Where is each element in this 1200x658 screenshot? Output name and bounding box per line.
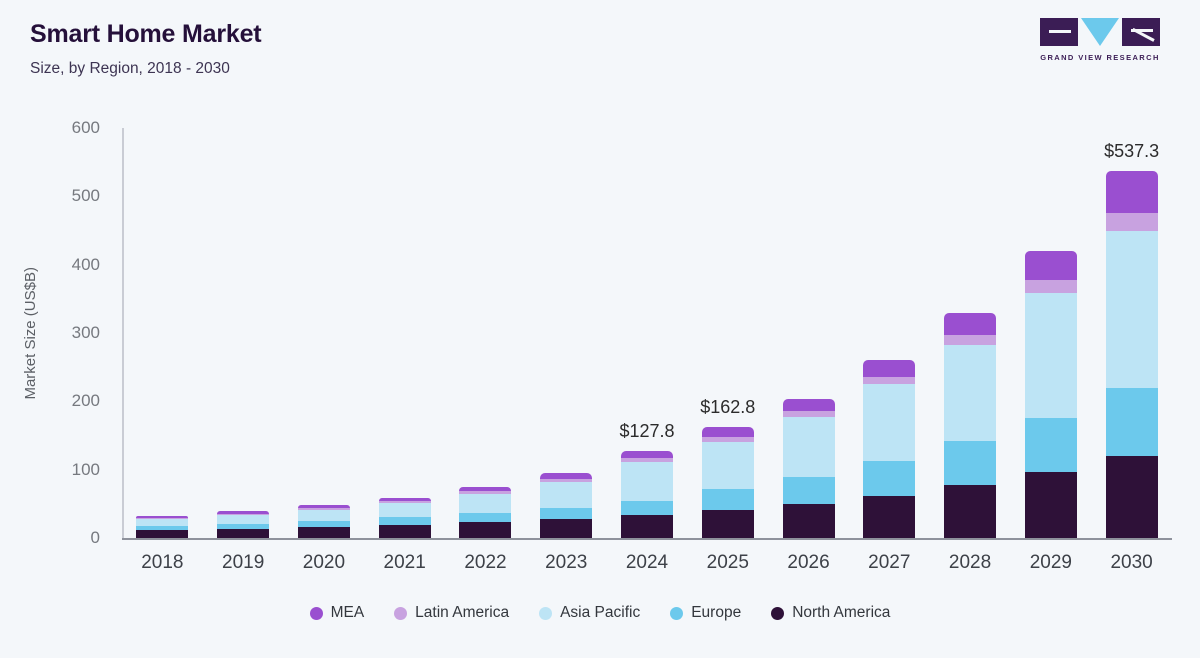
legend-label: Europe	[691, 604, 741, 622]
bar-segment-europe-2022[interactable]	[459, 513, 511, 522]
bar-segment-asia-pacific-2030[interactable]	[1106, 231, 1158, 388]
plot-area: $127.8$162.8$537.3	[122, 128, 1172, 538]
logo-triangle-v-icon	[1081, 18, 1119, 46]
x-axis-tick-2024: 2024	[626, 552, 668, 574]
x-axis-tick-2022: 2022	[464, 552, 506, 574]
legend-label: MEA	[331, 604, 365, 622]
bar-group-2028[interactable]	[944, 313, 996, 538]
bar-segment-north-america-2020[interactable]	[298, 527, 350, 538]
legend-item-latin-america[interactable]: Latin America	[394, 604, 509, 622]
bar-segment-asia-pacific-2020[interactable]	[298, 510, 350, 521]
x-axis-tick-2029: 2029	[1030, 552, 1072, 574]
bar-segment-europe-2025[interactable]	[702, 489, 754, 510]
x-axis-tick-2023: 2023	[545, 552, 587, 574]
bar-segment-north-america-2018[interactable]	[136, 530, 188, 538]
bar-segment-north-america-2022[interactable]	[459, 522, 511, 538]
bar-segment-europe-2026[interactable]	[783, 477, 835, 504]
legend-item-mea[interactable]: MEA	[310, 604, 365, 622]
bar-group-2020[interactable]	[298, 505, 350, 538]
legend-item-north-america[interactable]: North America	[771, 604, 890, 622]
bar-segment-north-america-2024[interactable]	[621, 515, 673, 538]
legend-swatch-icon	[394, 607, 407, 620]
y-axis-tick-300: 300	[72, 323, 100, 343]
bar-segment-asia-pacific-2018[interactable]	[136, 519, 188, 526]
bar-segment-europe-2021[interactable]	[379, 517, 431, 525]
bar-series-container: $127.8$162.8$537.3	[122, 128, 1172, 538]
bar-value-label-2025: $162.8	[700, 397, 755, 418]
bar-segment-latin-america-2030[interactable]	[1106, 213, 1158, 230]
logo-mark	[1035, 18, 1165, 48]
bar-segment-asia-pacific-2021[interactable]	[379, 503, 431, 517]
legend-swatch-icon	[670, 607, 683, 620]
x-axis-line	[122, 538, 1172, 540]
bar-segment-europe-2027[interactable]	[863, 461, 915, 496]
bar-segment-north-america-2023[interactable]	[540, 519, 592, 538]
bar-segment-mea-2029[interactable]	[1025, 251, 1077, 280]
y-axis-tick-0: 0	[91, 528, 100, 548]
bar-segment-asia-pacific-2025[interactable]	[702, 442, 754, 489]
bar-value-label-2030: $537.3	[1104, 141, 1159, 162]
bar-segment-north-america-2030[interactable]	[1106, 456, 1158, 538]
logo-wordmark: GRAND VIEW RESEARCH	[1035, 53, 1165, 62]
bar-segment-asia-pacific-2026[interactable]	[783, 417, 835, 476]
x-axis-tick-2028: 2028	[949, 552, 991, 574]
legend-label: Asia Pacific	[560, 604, 640, 622]
x-axis-tick-2025: 2025	[707, 552, 749, 574]
bar-segment-latin-america-2028[interactable]	[944, 335, 996, 345]
y-axis-tick-200: 200	[72, 391, 100, 411]
bar-group-2025[interactable]: $162.8	[702, 427, 754, 538]
page-title: Smart Home Market	[30, 18, 261, 50]
bar-segment-mea-2030[interactable]	[1106, 171, 1158, 214]
bar-segment-mea-2028[interactable]	[944, 313, 996, 335]
bar-segment-latin-america-2027[interactable]	[863, 377, 915, 385]
y-axis-tick-100: 100	[72, 460, 100, 480]
legend-label: North America	[792, 604, 890, 622]
bar-segment-mea-2024[interactable]	[621, 451, 673, 458]
bar-group-2019[interactable]	[217, 511, 269, 538]
logo-letter-r-icon	[1122, 18, 1160, 46]
bar-segment-europe-2030[interactable]	[1106, 388, 1158, 456]
bar-segment-north-america-2028[interactable]	[944, 485, 996, 538]
bar-segment-asia-pacific-2027[interactable]	[863, 384, 915, 461]
legend-swatch-icon	[539, 607, 552, 620]
bar-segment-asia-pacific-2022[interactable]	[459, 494, 511, 513]
bar-segment-europe-2029[interactable]	[1025, 418, 1077, 473]
legend-label: Latin America	[415, 604, 509, 622]
bar-segment-north-america-2027[interactable]	[863, 496, 915, 538]
bar-segment-mea-2025[interactable]	[702, 427, 754, 437]
bar-segment-north-america-2026[interactable]	[783, 504, 835, 538]
bar-group-2026[interactable]	[783, 399, 835, 538]
legend-item-asia-pacific[interactable]: Asia Pacific	[539, 604, 640, 622]
bar-segment-north-america-2025[interactable]	[702, 510, 754, 538]
bar-segment-asia-pacific-2019[interactable]	[217, 515, 269, 524]
x-axis-tick-2026: 2026	[787, 552, 829, 574]
bar-group-2027[interactable]	[863, 360, 915, 538]
bar-segment-europe-2024[interactable]	[621, 501, 673, 515]
bar-segment-north-america-2029[interactable]	[1025, 472, 1077, 538]
legend-item-europe[interactable]: Europe	[670, 604, 741, 622]
bar-segment-asia-pacific-2028[interactable]	[944, 345, 996, 441]
bar-group-2022[interactable]	[459, 487, 511, 538]
x-axis-tick-2027: 2027	[868, 552, 910, 574]
bar-group-2030[interactable]: $537.3	[1106, 171, 1158, 538]
bar-value-label-2024: $127.8	[619, 421, 674, 442]
legend-swatch-icon	[310, 607, 323, 620]
bar-segment-north-america-2019[interactable]	[217, 529, 269, 538]
bar-group-2021[interactable]	[379, 498, 431, 539]
y-axis-tick-labels: 0100200300400500600	[0, 128, 112, 538]
x-axis-tick-2019: 2019	[222, 552, 264, 574]
chart-header: Smart Home Market Size, by Region, 2018 …	[30, 18, 261, 79]
x-axis-tick-labels: 2018201920202021202220232024202520262027…	[122, 552, 1172, 582]
x-axis-tick-2020: 2020	[303, 552, 345, 574]
bar-segment-north-america-2021[interactable]	[379, 525, 431, 538]
bar-segment-asia-pacific-2024[interactable]	[621, 462, 673, 502]
bar-segment-europe-2028[interactable]	[944, 441, 996, 485]
bar-group-2029[interactable]	[1025, 251, 1077, 538]
grand-view-research-logo: GRAND VIEW RESEARCH	[1035, 18, 1165, 62]
y-axis-tick-500: 500	[72, 186, 100, 206]
x-axis-tick-2018: 2018	[141, 552, 183, 574]
legend-swatch-icon	[771, 607, 784, 620]
bar-segment-europe-2023[interactable]	[540, 508, 592, 519]
chart-legend: MEALatin AmericaAsia PacificEuropeNorth …	[0, 604, 1200, 622]
bar-segment-latin-america-2029[interactable]	[1025, 280, 1077, 293]
y-axis-tick-400: 400	[72, 255, 100, 275]
logo-letter-g-icon	[1040, 18, 1078, 46]
chart-subtitle: Size, by Region, 2018 - 2030	[30, 59, 261, 79]
x-axis-tick-2021: 2021	[384, 552, 426, 574]
bar-segment-asia-pacific-2029[interactable]	[1025, 293, 1077, 418]
x-axis-tick-2030: 2030	[1110, 552, 1152, 574]
y-axis-tick-600: 600	[72, 118, 100, 138]
bar-segment-mea-2027[interactable]	[863, 360, 915, 377]
bar-group-2023[interactable]	[540, 473, 592, 538]
bar-group-2024[interactable]: $127.8	[621, 451, 673, 538]
bar-group-2018[interactable]	[136, 516, 188, 538]
bar-segment-mea-2026[interactable]	[783, 399, 835, 412]
bar-segment-asia-pacific-2023[interactable]	[540, 482, 592, 509]
